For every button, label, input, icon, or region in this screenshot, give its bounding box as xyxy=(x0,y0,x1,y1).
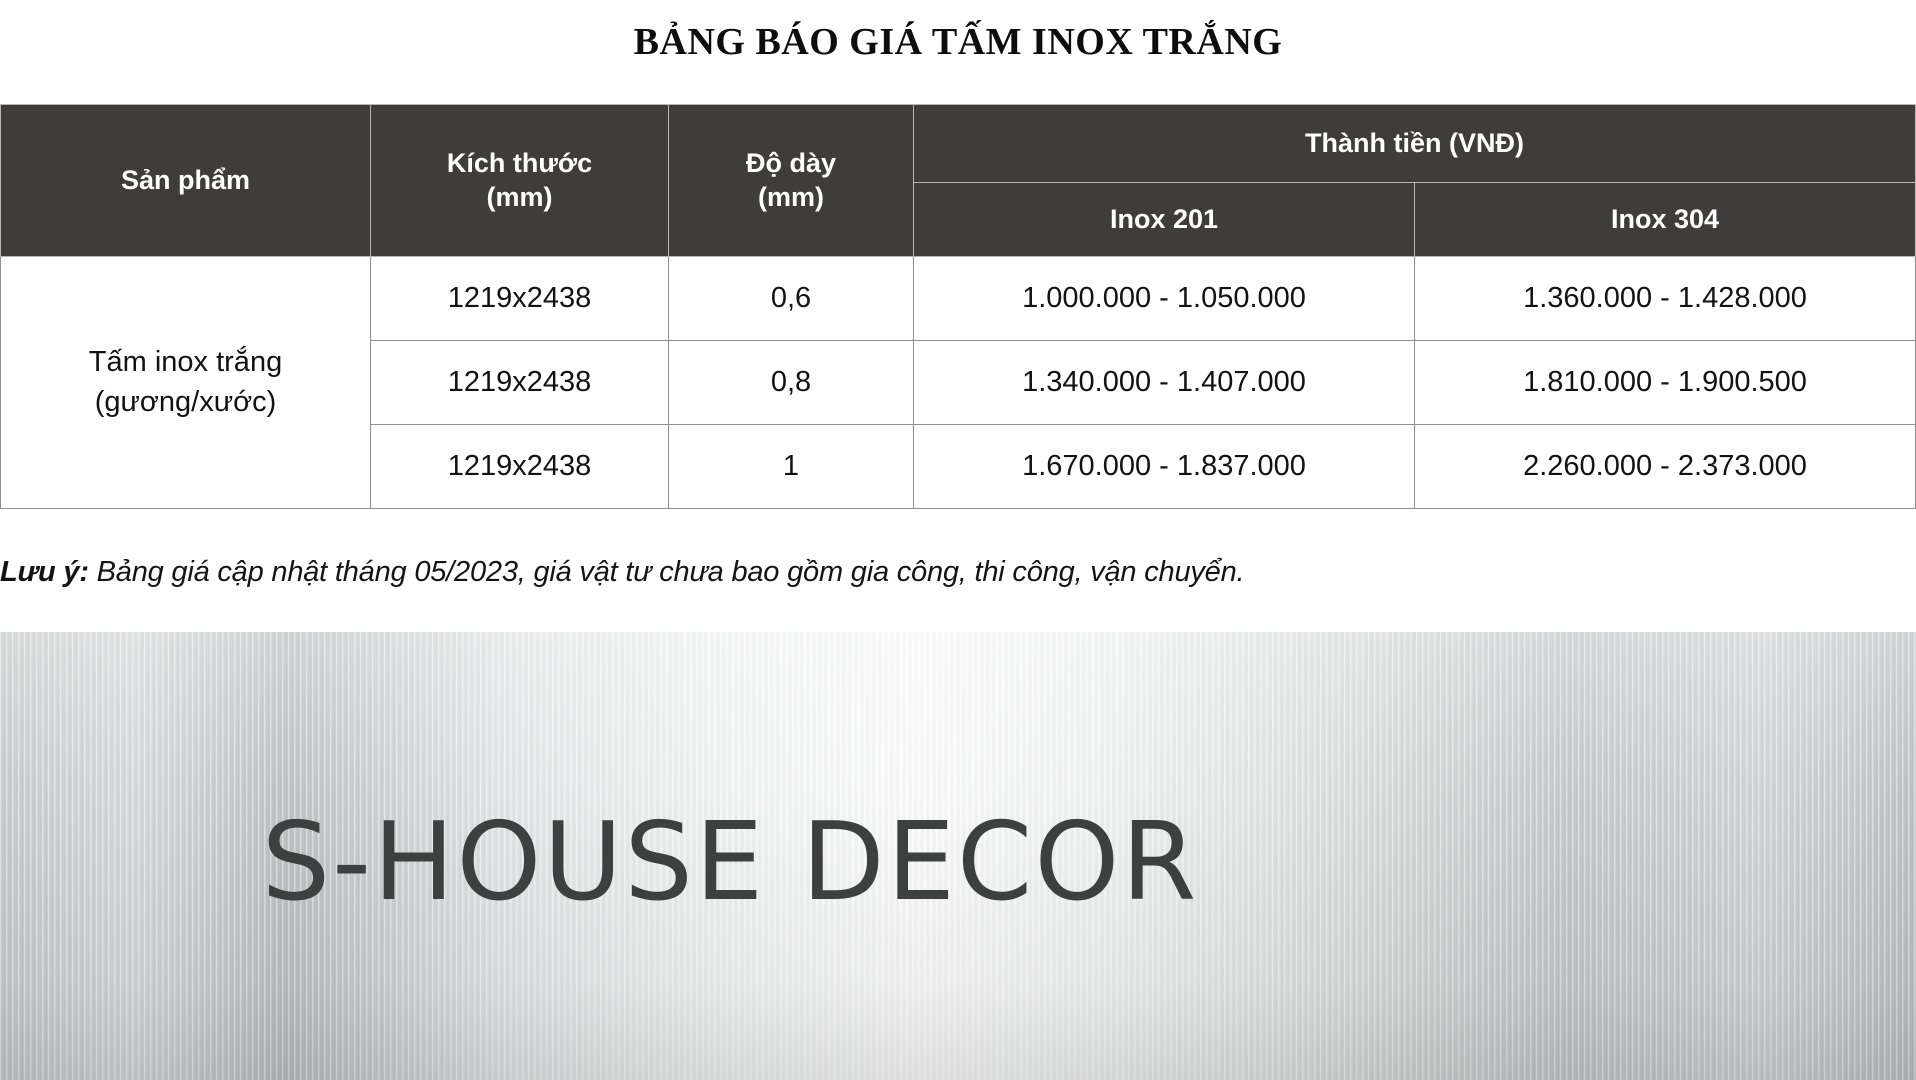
column-header-size-line1: Kích thước xyxy=(371,147,668,181)
cell-price-inox-201: 1.670.000 - 1.837.000 xyxy=(914,425,1415,509)
column-header-inox-201: Inox 201 xyxy=(914,183,1415,257)
price-list-page: BẢNG BÁO GIÁ TẤM INOX TRẮNG Sản phẩm Kíc… xyxy=(0,0,1916,1080)
table-head: Sản phẩm Kích thước (mm) Độ dày (mm) Thà… xyxy=(1,105,1916,257)
cell-price-inox-201: 1.340.000 - 1.407.000 xyxy=(914,341,1415,425)
footnote-text: Bảng giá cập nhật tháng 05/2023, giá vật… xyxy=(97,556,1245,588)
table-row: Tấm inox trắng (gương/xước) 1219x2438 0,… xyxy=(1,257,1916,341)
cell-size: 1219x2438 xyxy=(371,257,669,341)
product-name-line1: Tấm inox trắng xyxy=(1,343,370,382)
cell-size: 1219x2438 xyxy=(371,341,669,425)
column-header-thickness-line1: Độ dày xyxy=(669,147,913,181)
cell-price-inox-304: 1.810.000 - 1.900.500 xyxy=(1415,341,1916,425)
brand-banner: S-HOUSE DECOR xyxy=(0,632,1916,1080)
footnote: Lưu ý: Bảng giá cập nhật tháng 05/2023, … xyxy=(0,556,1916,589)
page-title: BẢNG BÁO GIÁ TẤM INOX TRẮNG xyxy=(0,0,1916,64)
table-body: Tấm inox trắng (gương/xước) 1219x2438 0,… xyxy=(1,257,1916,509)
header-row-primary: Sản phẩm Kích thước (mm) Độ dày (mm) Thà… xyxy=(1,105,1916,183)
column-header-size-line2: (mm) xyxy=(371,181,668,215)
column-header-inox-304: Inox 304 xyxy=(1415,183,1916,257)
price-table-container: Sản phẩm Kích thước (mm) Độ dày (mm) Thà… xyxy=(0,104,1916,509)
cell-product-name: Tấm inox trắng (gương/xước) xyxy=(1,257,371,509)
brand-name: S-HOUSE DECOR xyxy=(0,800,1460,925)
price-table: Sản phẩm Kích thước (mm) Độ dày (mm) Thà… xyxy=(0,104,1916,509)
cell-size: 1219x2438 xyxy=(371,425,669,509)
column-header-total-amount: Thành tiền (VNĐ) xyxy=(914,105,1916,183)
cell-thickness: 0,8 xyxy=(669,341,914,425)
cell-thickness: 1 xyxy=(669,425,914,509)
column-header-product: Sản phẩm xyxy=(1,105,371,257)
footnote-label: Lưu ý: xyxy=(0,556,89,588)
column-header-thickness: Độ dày (mm) xyxy=(669,105,914,257)
column-header-size: Kích thước (mm) xyxy=(371,105,669,257)
cell-thickness: 0,6 xyxy=(669,257,914,341)
product-name-line2: (gương/xước) xyxy=(1,383,370,422)
cell-price-inox-304: 2.260.000 - 2.373.000 xyxy=(1415,425,1916,509)
cell-price-inox-304: 1.360.000 - 1.428.000 xyxy=(1415,257,1916,341)
cell-price-inox-201: 1.000.000 - 1.050.000 xyxy=(914,257,1415,341)
document-area: BẢNG BÁO GIÁ TẤM INOX TRẮNG Sản phẩm Kíc… xyxy=(0,0,1916,632)
column-header-thickness-line2: (mm) xyxy=(669,181,913,215)
